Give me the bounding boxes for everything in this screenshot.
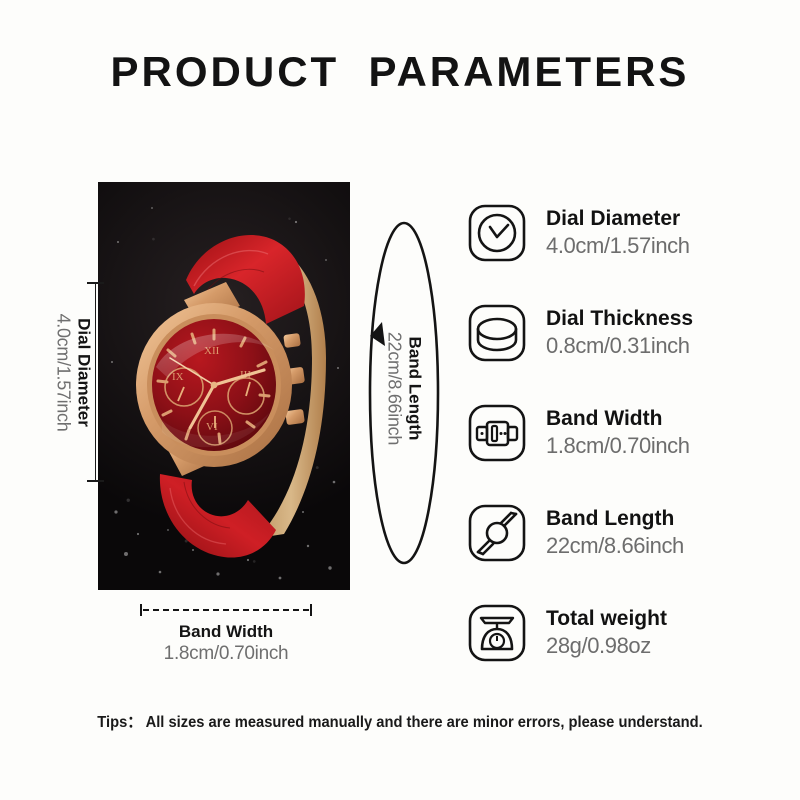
dimension-value: 4.0cm/1.57inch: [53, 273, 74, 473]
dimension-value: 1.8cm/0.70inch: [140, 643, 312, 665]
dimension-band-width: Band Width 1.8cm/0.70inch: [140, 604, 312, 665]
measure-bar-vertical: [95, 282, 96, 482]
measure-cap-left: [140, 604, 142, 616]
spec-text: Dial Diameter 4.0cm/1.57inch: [546, 206, 690, 260]
footer-tip: Tips： All sizes are measured manually an…: [32, 708, 768, 732]
watch-illustration: XII III VI IX: [98, 182, 350, 590]
spec-value: 1.8cm/0.70inch: [546, 432, 690, 460]
spec-label: Dial Thickness: [546, 306, 693, 332]
dimension-band-length: Band Length 22cm/8.66inch: [352, 218, 456, 568]
product-photo: XII III VI IX: [98, 182, 350, 590]
clock-icon: [466, 202, 528, 264]
spec-row-band-width: Band Width 1.8cm/0.70inch: [466, 383, 786, 483]
dimension-name: Band Width: [140, 622, 312, 642]
watch-strap-icon: [466, 502, 528, 564]
measure-cap-right: [310, 604, 312, 616]
spec-text: Dial Thickness 0.8cm/0.31inch: [546, 306, 693, 360]
spec-text: Band Width 1.8cm/0.70inch: [546, 406, 690, 460]
measure-dashes: [143, 609, 309, 611]
spec-label: Band Width: [546, 406, 690, 432]
spec-value: 28g/0.98oz: [546, 632, 667, 660]
spec-label: Total weight: [546, 606, 667, 632]
dimension-label-group: Dial Diameter 4.0cm/1.57inch: [53, 273, 94, 473]
spec-text: Band Length 22cm/8.66inch: [546, 506, 684, 560]
spec-value: 4.0cm/1.57inch: [546, 232, 690, 260]
svg-text:IX: IX: [172, 371, 184, 383]
spec-row-dial-thickness: Dial Thickness 0.8cm/0.31inch: [466, 283, 786, 383]
buckle-icon: [466, 402, 528, 464]
dimension-dial-diameter: Dial Diameter 4.0cm/1.57inch: [30, 282, 100, 482]
dimension-value: 22cm/8.66inch: [384, 239, 405, 539]
loop-label-group: Band Length 22cm/8.66inch: [384, 239, 425, 539]
measure-bar-horizontal: [140, 604, 312, 616]
scale-icon: [466, 602, 528, 664]
spec-row-band-length: Band Length 22cm/8.66inch: [466, 483, 786, 583]
measure-cap-bottom: [87, 480, 104, 482]
product-parameters-page: PRODUCT PARAMETERS: [0, 0, 800, 800]
page-title: PRODUCT PARAMETERS: [0, 48, 800, 96]
spec-list: Dial Diameter 4.0cm/1.57inch Dial Thickn…: [466, 183, 786, 683]
spec-label: Dial Diameter: [546, 206, 690, 232]
spec-label: Band Length: [546, 506, 684, 532]
spec-value: 22cm/8.66inch: [546, 532, 684, 560]
dimension-name: Dial Diameter: [74, 273, 94, 473]
spec-value: 0.8cm/0.31inch: [546, 332, 693, 360]
spec-row-dial-diameter: Dial Diameter 4.0cm/1.57inch: [466, 183, 786, 283]
dimension-name: Band Length: [405, 239, 425, 539]
cylinder-icon: [466, 302, 528, 364]
svg-text:VI: VI: [206, 421, 218, 433]
spec-row-total-weight: Total weight 28g/0.98oz: [466, 583, 786, 683]
spec-text: Total weight 28g/0.98oz: [546, 606, 667, 660]
